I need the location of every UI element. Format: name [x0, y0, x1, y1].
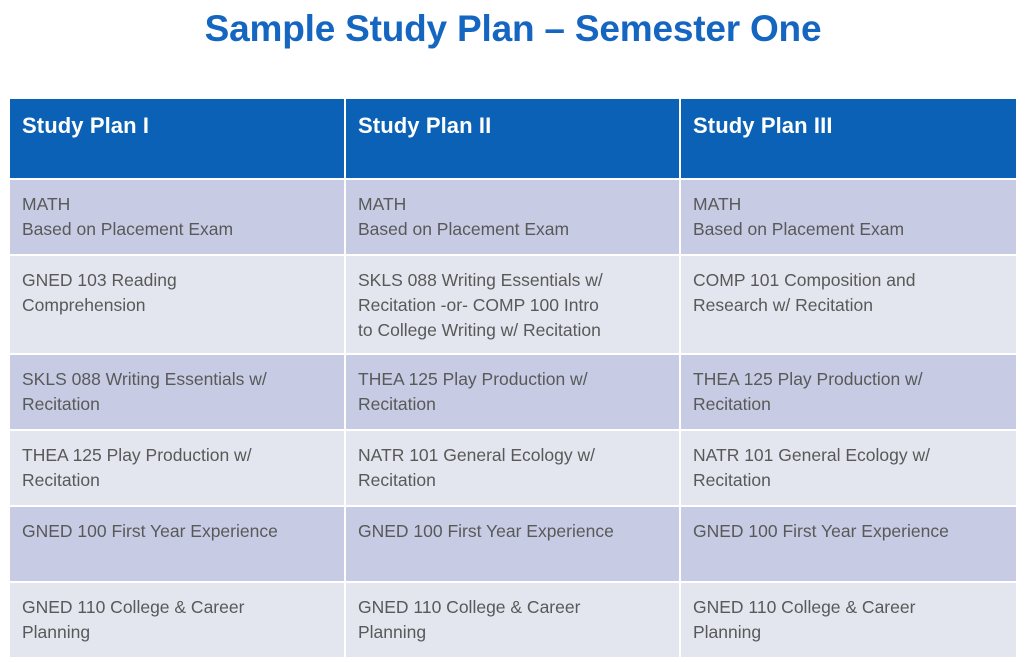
table-cell: THEA 125 Play Production w/ Recitation: [346, 355, 681, 431]
course-text: THEA 125 Play Production w/ Recitation: [358, 367, 667, 417]
course-text: SKLS 088 Writing Essentials w/ Recitatio…: [358, 268, 667, 343]
table-row: MATH Based on Placement Exam MATH Based …: [10, 180, 1016, 256]
study-plan-table: Study Plan I Study Plan II Study Plan II…: [10, 99, 1016, 659]
table-row: GNED 100 First Year Experience GNED 100 …: [10, 507, 1016, 583]
table-cell: MATH Based on Placement Exam: [681, 180, 1016, 256]
course-text: COMP 101 Composition and Research w/ Rec…: [693, 268, 1004, 318]
table-cell: MATH Based on Placement Exam: [10, 180, 346, 256]
table-cell: GNED 100 First Year Experience: [681, 507, 1016, 583]
table-row: GNED 103 Reading Comprehension SKLS 088 …: [10, 256, 1016, 355]
course-text: GNED 110 College & Career Planning: [22, 595, 332, 645]
course-text: MATH Based on Placement Exam: [693, 192, 1004, 242]
table-cell: GNED 100 First Year Experience: [346, 507, 681, 583]
course-text: MATH Based on Placement Exam: [22, 192, 332, 242]
table-cell: NATR 101 General Ecology w/ Recitation: [346, 431, 681, 507]
table-header-row: Study Plan I Study Plan II Study Plan II…: [10, 99, 1016, 180]
course-text: GNED 100 First Year Experience: [693, 519, 1004, 544]
course-text: NATR 101 General Ecology w/ Recitation: [358, 443, 667, 493]
table-cell: GNED 100 First Year Experience: [10, 507, 346, 583]
table-row: THEA 125 Play Production w/ Recitation N…: [10, 431, 1016, 507]
table-row: GNED 110 College & Career Planning GNED …: [10, 583, 1016, 659]
course-text: NATR 101 General Ecology w/ Recitation: [693, 443, 1004, 493]
table-cell: GNED 110 College & Career Planning: [10, 583, 346, 659]
course-text: GNED 100 First Year Experience: [22, 519, 332, 544]
table-cell: MATH Based on Placement Exam: [346, 180, 681, 256]
course-text: GNED 110 College & Career Planning: [693, 595, 1004, 645]
table-header: Study Plan I Study Plan II Study Plan II…: [10, 99, 1016, 180]
course-text: THEA 125 Play Production w/ Recitation: [693, 367, 1004, 417]
course-text: SKLS 088 Writing Essentials w/ Recitatio…: [22, 367, 332, 417]
table-cell: THEA 125 Play Production w/ Recitation: [681, 355, 1016, 431]
page-title: Sample Study Plan – Semester One: [0, 4, 1026, 54]
course-text: GNED 103 Reading Comprehension: [22, 268, 332, 318]
table-body: MATH Based on Placement Exam MATH Based …: [10, 180, 1016, 659]
table-cell: NATR 101 General Ecology w/ Recitation: [681, 431, 1016, 507]
course-text: THEA 125 Play Production w/ Recitation: [22, 443, 332, 493]
table-cell: GNED 110 College & Career Planning: [346, 583, 681, 659]
column-header-study-plan-2: Study Plan II: [346, 99, 681, 180]
slide-page: Sample Study Plan – Semester One Study P…: [0, 0, 1026, 663]
table-cell: GNED 103 Reading Comprehension: [10, 256, 346, 355]
column-header-study-plan-3: Study Plan III: [681, 99, 1016, 180]
course-text: GNED 100 First Year Experience: [358, 519, 667, 544]
table-cell: SKLS 088 Writing Essentials w/ Recitatio…: [346, 256, 681, 355]
column-header-study-plan-1: Study Plan I: [10, 99, 346, 180]
table-cell: SKLS 088 Writing Essentials w/ Recitatio…: [10, 355, 346, 431]
course-text: MATH Based on Placement Exam: [358, 192, 667, 242]
table-row: SKLS 088 Writing Essentials w/ Recitatio…: [10, 355, 1016, 431]
table-cell: COMP 101 Composition and Research w/ Rec…: [681, 256, 1016, 355]
table-cell: THEA 125 Play Production w/ Recitation: [10, 431, 346, 507]
course-text: GNED 110 College & Career Planning: [358, 595, 667, 645]
table-cell: GNED 110 College & Career Planning: [681, 583, 1016, 659]
